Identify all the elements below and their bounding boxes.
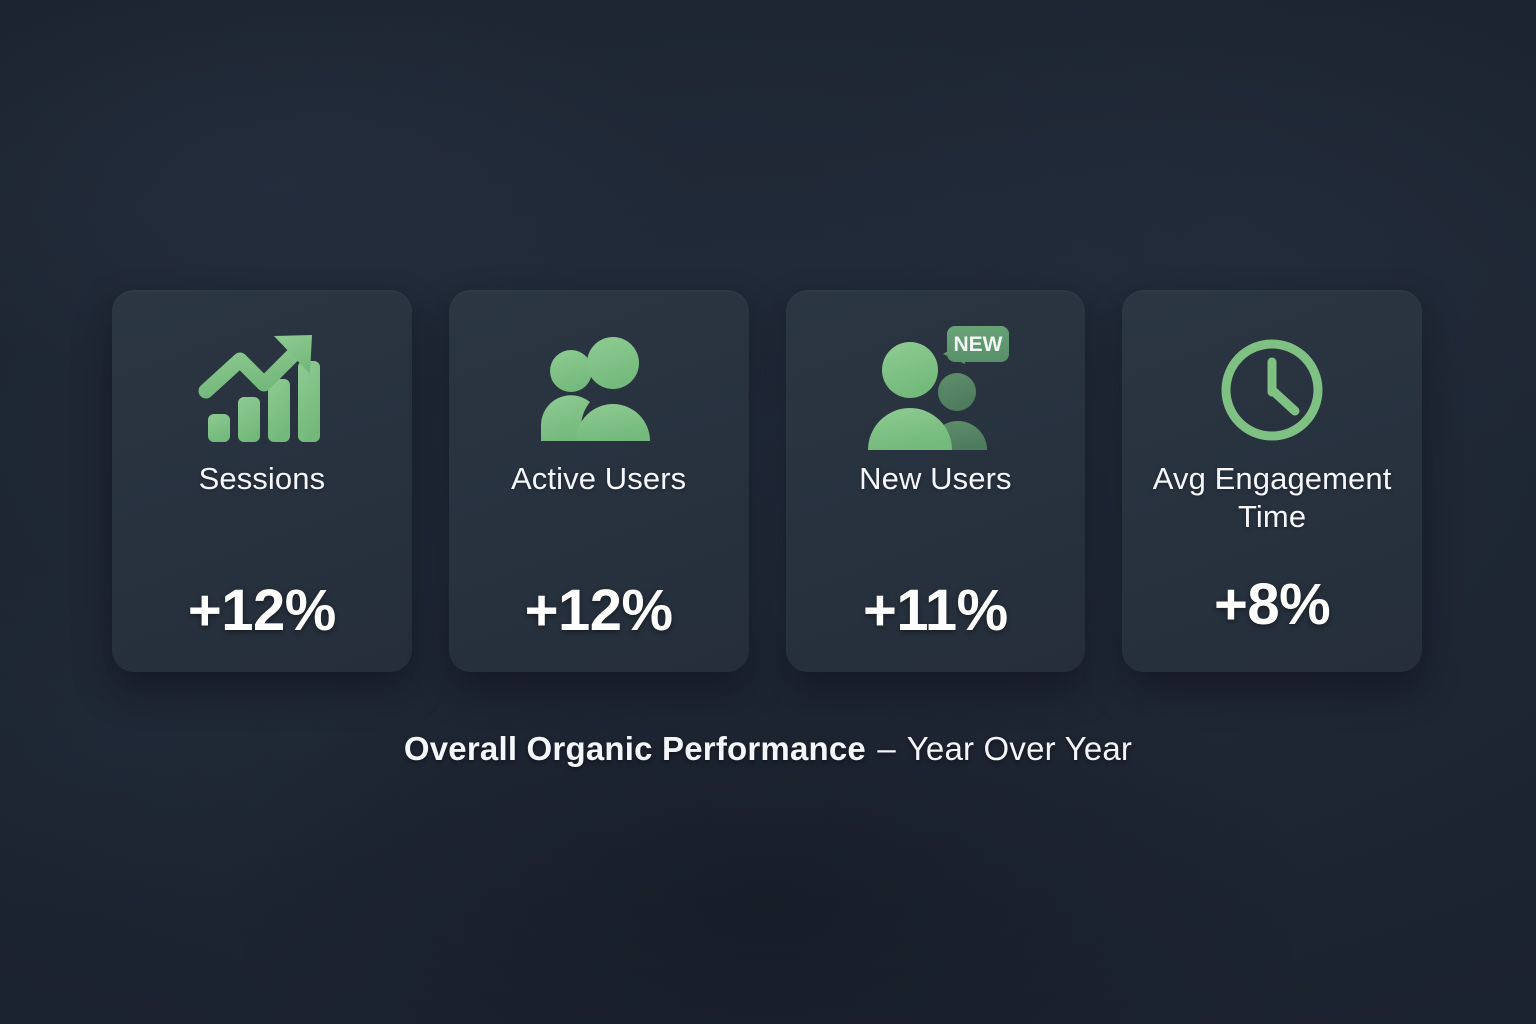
kpi-label: New Users [859,460,1011,498]
kpi-card-avg-engagement-time[interactable]: Avg Engagement Time +8% [1122,290,1422,672]
caption-light: Year Over Year [907,730,1132,767]
new-badge-text: NEW [954,333,1003,356]
trending-up-bar-chart-icon [128,324,396,456]
kpi-value: +8% [1214,576,1330,634]
two-users-icon [465,324,733,456]
kpi-card-active-users[interactable]: Active Users +12% [449,290,749,672]
kpi-label: Sessions [199,460,326,498]
kpi-card-row: Sessions +12% [112,290,1422,672]
new-users-icon: NEW [802,324,1070,456]
kpi-value: +12% [188,582,336,640]
kpi-label: Active Users [511,460,686,498]
kpi-value: +12% [525,582,673,640]
caption-dash: – [875,730,898,767]
clock-icon [1138,324,1406,456]
caption-strong: Overall Organic Performance [404,730,866,767]
caption: Overall Organic Performance – Year Over … [0,729,1536,769]
kpi-label: Avg Engagement Time [1138,460,1406,536]
kpi-card-new-users[interactable]: NEW New Users +11% [786,290,1086,672]
kpi-card-sessions[interactable]: Sessions +12% [112,290,412,672]
kpi-dashboard-canvas: Sessions +12% [0,0,1536,1024]
kpi-value: +11% [863,582,1008,640]
